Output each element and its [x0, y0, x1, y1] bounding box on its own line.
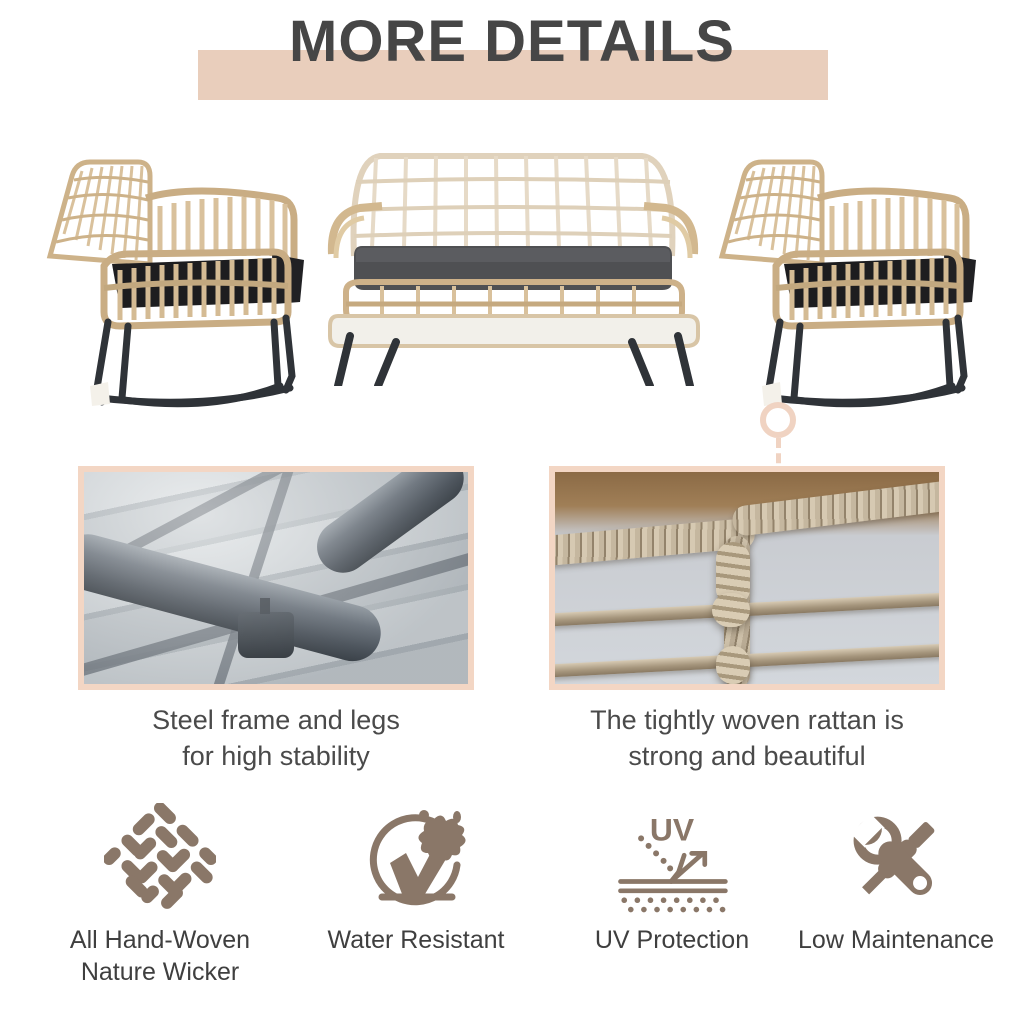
feature-hand-woven-wicker-label: All Hand-Woven Nature Wicker — [70, 924, 250, 988]
feature-water-resistant[interactable]: Water Resistant — [288, 800, 544, 1000]
feature-label-line1: Low Maintenance — [798, 924, 994, 956]
photo-vignette — [84, 472, 468, 684]
rattan-knot-center — [712, 593, 750, 627]
woven-rattan-photo-content — [555, 472, 939, 684]
woven-wicker-icon — [101, 800, 219, 918]
feature-hand-woven-wicker[interactable]: All Hand-Woven Nature Wicker — [32, 800, 288, 1000]
rattan-loveseat-center — [320, 136, 706, 386]
caption-woven-rattan: The tightly woven rattan is strong and b… — [549, 702, 945, 774]
product-hero-row — [0, 128, 1024, 428]
uv-icon-text: UV — [650, 811, 695, 847]
feature-water-resistant-label: Water Resistant — [328, 924, 505, 956]
page-header: MORE DETAILS — [0, 0, 1024, 120]
rattan-armchair-right — [714, 136, 994, 426]
rattan-armchair-left — [42, 136, 322, 426]
feature-label-line1: UV Protection — [595, 924, 749, 956]
feature-row: All Hand-Woven Nature Wicker — [0, 800, 1024, 1000]
feature-low-maintenance[interactable]: Low Maintenance — [768, 800, 1024, 1000]
rattan-knot-lower — [716, 646, 750, 684]
steel-frame-photo-content — [84, 472, 468, 684]
caption-steel-frame: Steel frame and legs for high stability — [78, 702, 474, 774]
feature-uv-protection-label: UV Protection — [595, 924, 749, 956]
feature-low-maintenance-label: Low Maintenance — [798, 924, 994, 956]
more-details-page: MORE DETAILS — [0, 0, 1024, 1024]
page-title: MORE DETAILS — [0, 8, 1024, 75]
caption-woven-rattan-line2: strong and beautiful — [549, 738, 945, 774]
water-resistant-icon — [357, 800, 475, 918]
feature-label-line1: Water Resistant — [328, 924, 505, 956]
feature-label-line2: Nature Wicker — [70, 956, 250, 988]
caption-steel-frame-line1: Steel frame and legs — [78, 702, 474, 738]
detail-photo-woven-rattan[interactable] — [549, 466, 945, 690]
caption-steel-frame-line2: for high stability — [78, 738, 474, 774]
callout-circle-woven-rattan — [760, 402, 796, 438]
feature-uv-protection[interactable]: UV — [544, 800, 800, 1000]
low-maintenance-icon — [837, 800, 955, 918]
detail-photo-steel-frame[interactable] — [78, 466, 474, 690]
feature-label-line1: All Hand-Woven — [70, 924, 250, 956]
uv-protection-icon: UV — [613, 800, 731, 918]
caption-woven-rattan-line1: The tightly woven rattan is — [549, 702, 945, 738]
